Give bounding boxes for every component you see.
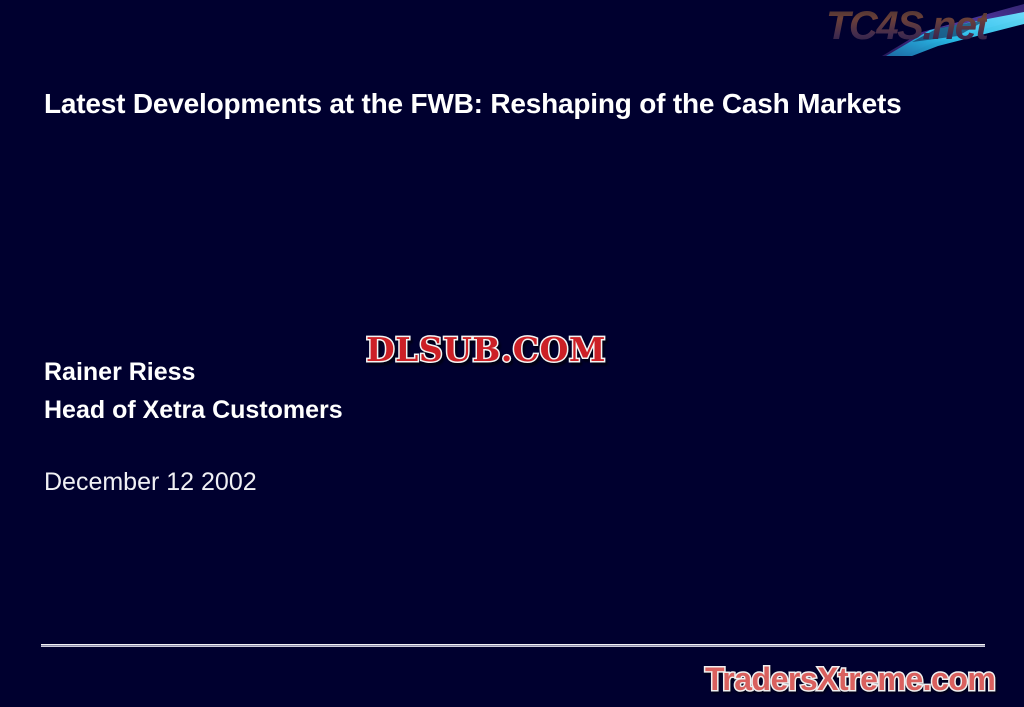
presenter-block: Rainer Riess Head of Xetra Customers xyxy=(44,353,343,429)
slide-title: Latest Developments at the FWB: Reshapin… xyxy=(44,84,924,124)
watermark-tc4s: TC4S.net xyxy=(826,2,1024,56)
watermark-tc4s-text: TC4S.net xyxy=(826,2,987,50)
watermark-tradersxtreme: TradersXtreme.com xyxy=(705,661,995,698)
slide-date: December 12 2002 xyxy=(44,468,257,497)
presenter-role: Head of Xetra Customers xyxy=(44,391,343,429)
presentation-slide: Latest Developments at the FWB: Reshapin… xyxy=(0,0,1024,707)
footer-divider xyxy=(41,644,985,647)
presenter-name: Rainer Riess xyxy=(44,353,343,391)
watermark-dlsub: DLSUB.COM xyxy=(366,330,606,369)
